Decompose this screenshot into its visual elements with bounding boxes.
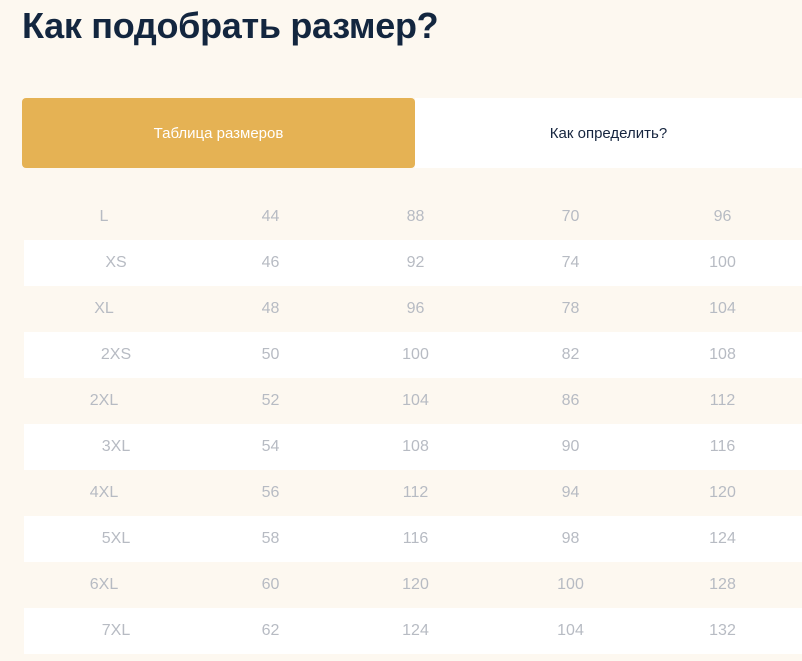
cell-measure-3: 94 (498, 485, 643, 501)
cell-measure-1: 48 (208, 301, 333, 317)
cell-measure-1: 52 (208, 393, 333, 409)
cell-measure-4: 124 (643, 531, 802, 547)
cell-measure-2: 124 (333, 623, 498, 639)
cell-measure-3: 70 (498, 209, 643, 225)
size-table: L44887096XS469274100XL4896781042XS501008… (0, 194, 802, 654)
table-row: L44887096 (0, 194, 802, 240)
table-row: XS469274100 (24, 240, 802, 286)
cell-size: 3XL (24, 439, 208, 455)
cell-measure-1: 44 (208, 209, 333, 225)
cell-measure-1: 60 (208, 577, 333, 593)
cell-measure-4: 128 (643, 577, 802, 593)
cell-measure-3: 100 (498, 577, 643, 593)
tab-size-chart[interactable]: Таблица размеров (22, 98, 415, 168)
cell-measure-2: 104 (333, 393, 498, 409)
cell-measure-2: 100 (333, 347, 498, 363)
cell-measure-4: 132 (643, 623, 802, 639)
cell-size: L (0, 209, 208, 225)
cell-measure-1: 46 (208, 255, 333, 271)
cell-measure-1: 50 (208, 347, 333, 363)
table-row: 4XL5611294120 (0, 470, 802, 516)
cell-measure-1: 58 (208, 531, 333, 547)
cell-size: 2XL (0, 393, 208, 409)
cell-measure-1: 62 (208, 623, 333, 639)
cell-measure-2: 112 (333, 485, 498, 501)
cell-measure-1: 56 (208, 485, 333, 501)
cell-measure-4: 120 (643, 485, 802, 501)
table-row: XL489678104 (0, 286, 802, 332)
cell-measure-3: 78 (498, 301, 643, 317)
cell-measure-2: 120 (333, 577, 498, 593)
cell-size: XS (24, 255, 208, 271)
tab-bar: Таблица размеров Как определить? (22, 98, 802, 168)
cell-measure-4: 104 (643, 301, 802, 317)
table-row: 3XL5410890116 (24, 424, 802, 470)
cell-measure-4: 100 (643, 255, 802, 271)
cell-size: 2XS (24, 347, 208, 363)
table-row: 7XL62124104132 (24, 608, 802, 654)
cell-size: 5XL (24, 531, 208, 547)
table-row: 6XL60120100128 (0, 562, 802, 608)
table-row: 5XL5811698124 (24, 516, 802, 562)
cell-measure-3: 86 (498, 393, 643, 409)
cell-measure-4: 112 (643, 393, 802, 409)
size-guide-page: Как подобрать размер? Таблица размеров К… (0, 0, 802, 661)
cell-size: 7XL (24, 623, 208, 639)
cell-measure-3: 98 (498, 531, 643, 547)
cell-measure-4: 108 (643, 347, 802, 363)
cell-size: 6XL (0, 577, 208, 593)
cell-measure-2: 88 (333, 209, 498, 225)
cell-measure-4: 96 (643, 209, 802, 225)
cell-measure-2: 92 (333, 255, 498, 271)
table-row: 2XL5210486112 (0, 378, 802, 424)
cell-measure-4: 116 (643, 439, 802, 455)
page-title: Как подобрать размер? (22, 2, 438, 50)
cell-measure-2: 108 (333, 439, 498, 455)
cell-measure-3: 90 (498, 439, 643, 455)
cell-measure-3: 104 (498, 623, 643, 639)
cell-measure-3: 74 (498, 255, 643, 271)
cell-measure-2: 116 (333, 531, 498, 547)
table-row: 2XS5010082108 (24, 332, 802, 378)
cell-size: XL (0, 301, 208, 317)
cell-size: 4XL (0, 485, 208, 501)
cell-measure-1: 54 (208, 439, 333, 455)
cell-measure-2: 96 (333, 301, 498, 317)
tab-how-to-measure[interactable]: Как определить? (415, 98, 802, 168)
cell-measure-3: 82 (498, 347, 643, 363)
